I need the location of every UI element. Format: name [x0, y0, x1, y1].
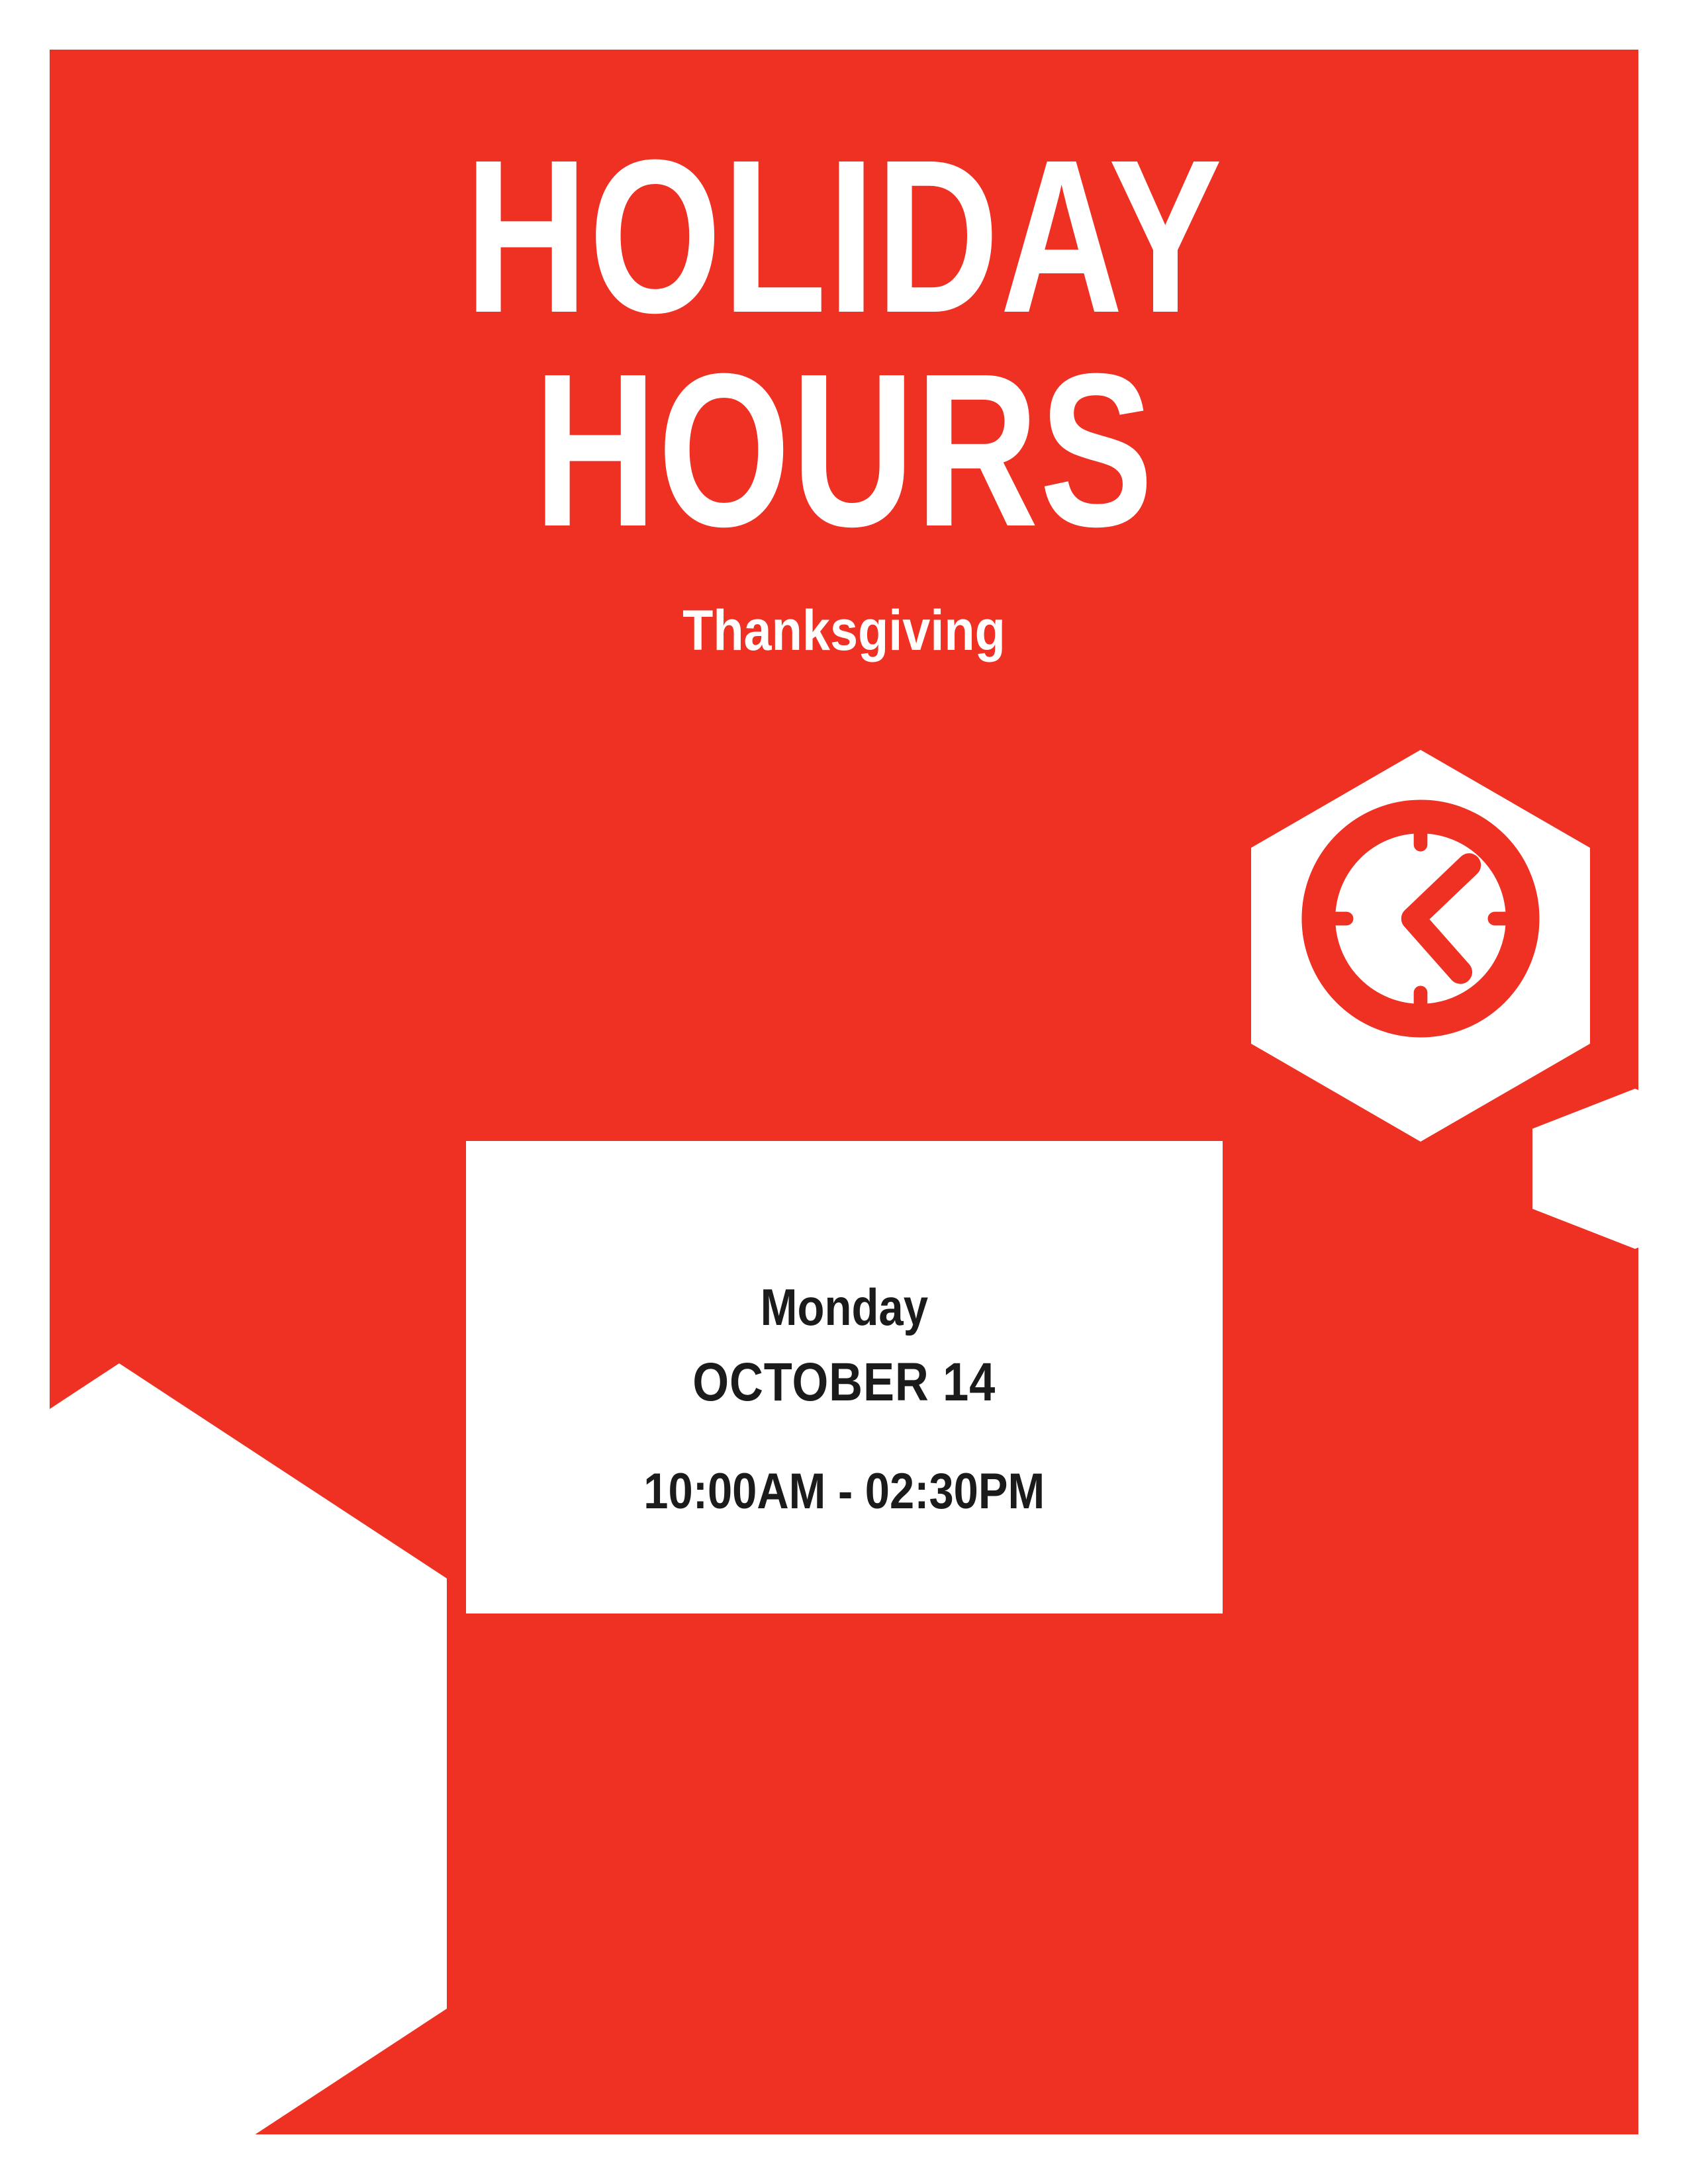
title-line-hours: HOURS: [224, 343, 1464, 557]
info-day-label: Monday: [761, 1281, 928, 1333]
poster-headline: HOLIDAY HOURS Thanksgiving: [50, 129, 1638, 659]
poster-subtitle: Thanksgiving: [145, 602, 1543, 659]
hours-info-card: Monday OCTOBER 14 10:00AM - 02:30PM: [466, 1141, 1223, 1614]
info-time-range: 10:00AM - 02:30PM: [644, 1467, 1045, 1517]
poster-canvas: HOLIDAY HOURS Thanksgiving Monday OCTOBE…: [0, 0, 1688, 2184]
red-background-panel: HOLIDAY HOURS Thanksgiving Monday OCTOBE…: [50, 50, 1638, 2134]
info-date-label: OCTOBER 14: [693, 1355, 996, 1410]
clock-icon: [1296, 794, 1545, 1043]
hexagon-shape-corner: [50, 1363, 447, 2134]
title-line-holiday: HOLIDAY: [224, 129, 1464, 343]
hexagon-shape-small: [1532, 1089, 1638, 1249]
